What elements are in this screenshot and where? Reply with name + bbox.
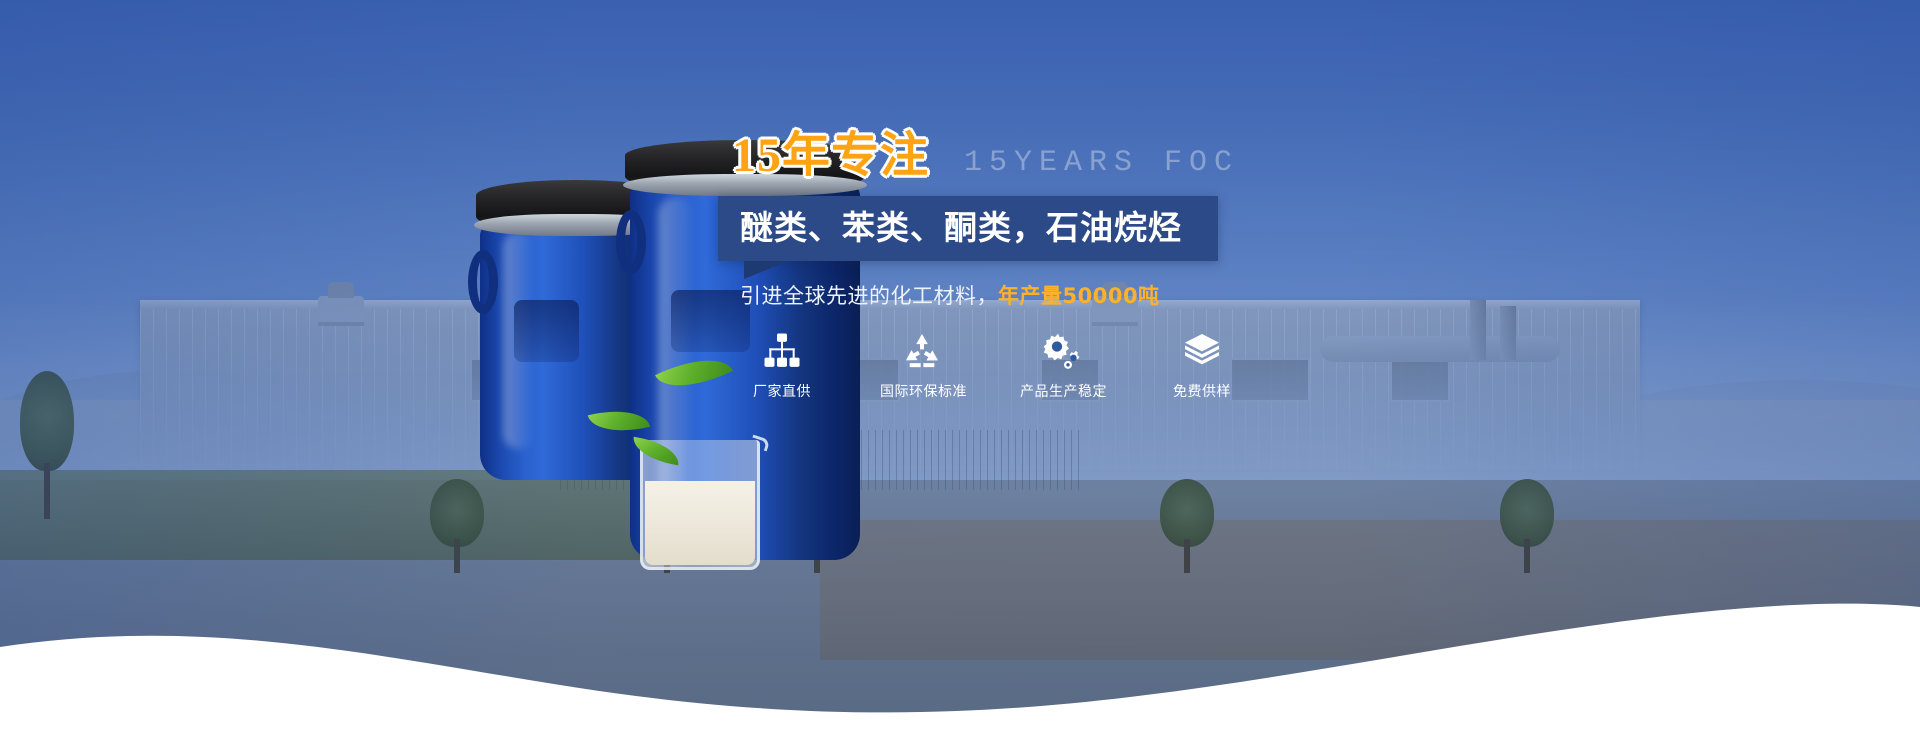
bottom-wave-divider xyxy=(0,521,1920,751)
feature-list: 厂家直供 国际环保标准 xyxy=(740,330,1244,401)
recycle-icon xyxy=(901,330,943,372)
sitemap-icon xyxy=(761,330,803,372)
headline-english: 15YEARS FOC xyxy=(964,146,1239,180)
feature-item-eco-standard[interactable]: 国际环保标准 xyxy=(880,330,964,401)
subline-highlight: 年产量50000吨 xyxy=(998,284,1160,308)
gears-icon xyxy=(1041,330,1083,372)
package-box-icon xyxy=(1181,330,1223,372)
feature-item-factory-direct[interactable]: 厂家直供 xyxy=(740,330,824,401)
tagline-wrapper: 醚类、苯类、酮类，石油烷烃 xyxy=(718,196,1238,261)
tagline-text: 醚类、苯类、酮类，石油烷烃 xyxy=(740,210,1200,246)
tagline-notch xyxy=(744,261,788,279)
headline-chinese: 15年专注 xyxy=(732,130,929,182)
feature-item-free-sample[interactable]: 免费供样 xyxy=(1160,330,1244,401)
headline-row: 15年专注 15YEARS FOC xyxy=(718,130,1238,188)
feature-label: 产品生产稳定 xyxy=(1020,384,1104,401)
hero-banner: 15年专注 15YEARS FOC 醚类、苯类、酮类，石油烷烃 引进全球先进的化… xyxy=(0,0,1920,751)
tagline-panel: 醚类、苯类、酮类，石油烷烃 xyxy=(718,196,1218,261)
banner-copy: 15年专注 15YEARS FOC 醚类、苯类、酮类，石油烷烃 引进全球先进的化… xyxy=(718,130,1238,309)
subline: 引进全球先进的化工材料，年产量50000吨 xyxy=(740,283,1238,309)
feature-item-stable-production[interactable]: 产品生产稳定 xyxy=(1020,330,1104,401)
subline-plain: 引进全球先进的化工材料， xyxy=(740,284,998,308)
feature-label: 国际环保标准 xyxy=(880,384,964,401)
feature-label: 免费供样 xyxy=(1160,384,1244,401)
feature-label: 厂家直供 xyxy=(740,384,824,401)
